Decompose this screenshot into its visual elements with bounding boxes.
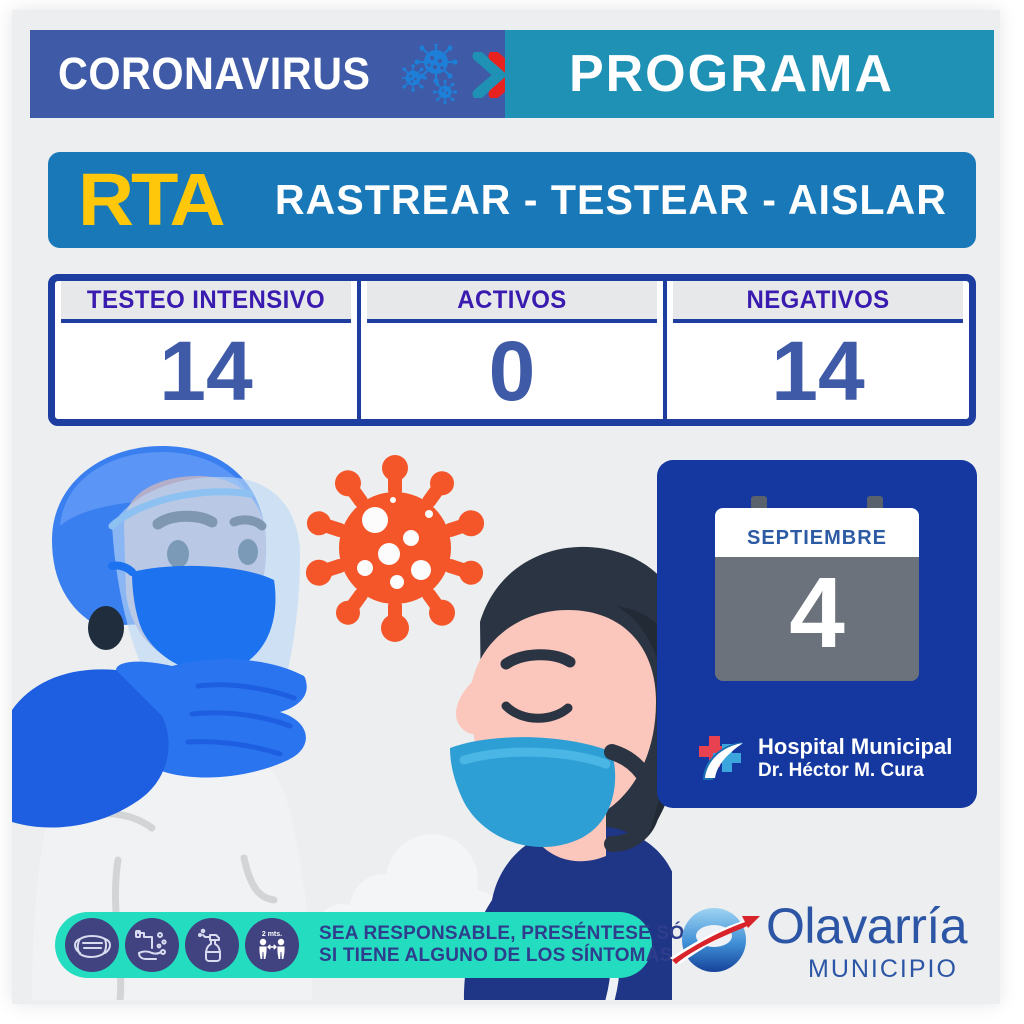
- stat-value: 0: [361, 323, 663, 419]
- header-right-panel: PROGRAMA: [505, 30, 994, 118]
- rta-banner: RTA RASTREAR - TESTEAR - AISLAR: [48, 152, 976, 248]
- hospital-logo: Hospital Municipal Dr. Héctor M. Cura: [695, 732, 952, 784]
- handwashing-icon: [125, 918, 179, 972]
- header-left-panel: CORONAVIRUS: [30, 30, 505, 118]
- stat-value: 14: [667, 323, 969, 419]
- stat-label: NEGATIVOS: [673, 281, 963, 323]
- municipality-name: Olavarría: [766, 901, 967, 951]
- stat-label: TESTEO INTENSIVO: [61, 281, 351, 323]
- header-bar: CORONAVIRUS: [30, 30, 994, 118]
- advice-line-2: SI TIENE ALGUNO DE LOS SÍNTOMAS: [319, 945, 711, 967]
- rta-acronym: RTA: [78, 163, 222, 237]
- virus-cluster-icon: [402, 44, 472, 106]
- stat-cell-testeo-intensivo: TESTEO INTENSIVO 14: [55, 281, 361, 419]
- poster-root: CORONAVIRUS: [0, 0, 1024, 1024]
- advice-banner: 2 mts. SEA RESPONSABLE, PRESÉNTE: [55, 912, 652, 978]
- calendar-month: SEPTIEMBRE: [715, 508, 919, 557]
- stat-label: ACTIVOS: [367, 281, 657, 323]
- olavarria-swoosh-icon: [668, 902, 764, 982]
- stat-cell-activos: ACTIVOS 0: [361, 281, 667, 419]
- calendar-widget: SEPTIEMBRE 4: [715, 496, 919, 668]
- olavarria-logo: Olavarría MUNICIPIO: [668, 896, 978, 988]
- olavarria-text: Olavarría MUNICIPIO: [766, 901, 967, 984]
- orange-coronavirus-particle: [303, 455, 488, 642]
- stats-table: TESTEO INTENSIVO 14 ACTIVOS 0 NEGATIVOS …: [48, 274, 976, 426]
- municipality-subtitle: MUNICIPIO: [808, 955, 967, 984]
- social-distancing-icon: 2 mts.: [245, 918, 299, 972]
- header-coronavirus-title: CORONAVIRUS: [58, 48, 371, 100]
- advice-icon-group: 2 mts.: [65, 918, 305, 972]
- face-mask-icon: [65, 918, 119, 972]
- header-programa-title: PROGRAMA: [569, 44, 894, 104]
- svg-text:2 mts.: 2 mts.: [262, 931, 282, 938]
- hospital-text: Hospital Municipal Dr. Héctor M. Cura: [758, 735, 952, 781]
- hospital-name: Hospital Municipal: [758, 735, 952, 760]
- sanitizer-spray-icon: [185, 918, 239, 972]
- calendar-day: 4: [715, 557, 919, 681]
- advice-text: SEA RESPONSABLE, PRESÉNTESE SÓLO SI TIEN…: [319, 923, 711, 968]
- calendar-body: SEPTIEMBRE 4: [715, 508, 919, 681]
- hospital-cross-icon: [695, 732, 747, 784]
- rta-tagline: RASTREAR - TESTEAR - AISLAR: [274, 176, 946, 224]
- stat-value: 14: [55, 323, 357, 419]
- calendar-card: SEPTIEMBRE 4 Hospital Municipal Dr. Héct…: [657, 460, 977, 808]
- stat-cell-negativos: NEGATIVOS 14: [667, 281, 969, 419]
- advice-line-1: SEA RESPONSABLE, PRESÉNTESE SÓLO: [319, 923, 711, 945]
- hospital-subtitle: Dr. Héctor M. Cura: [758, 760, 952, 781]
